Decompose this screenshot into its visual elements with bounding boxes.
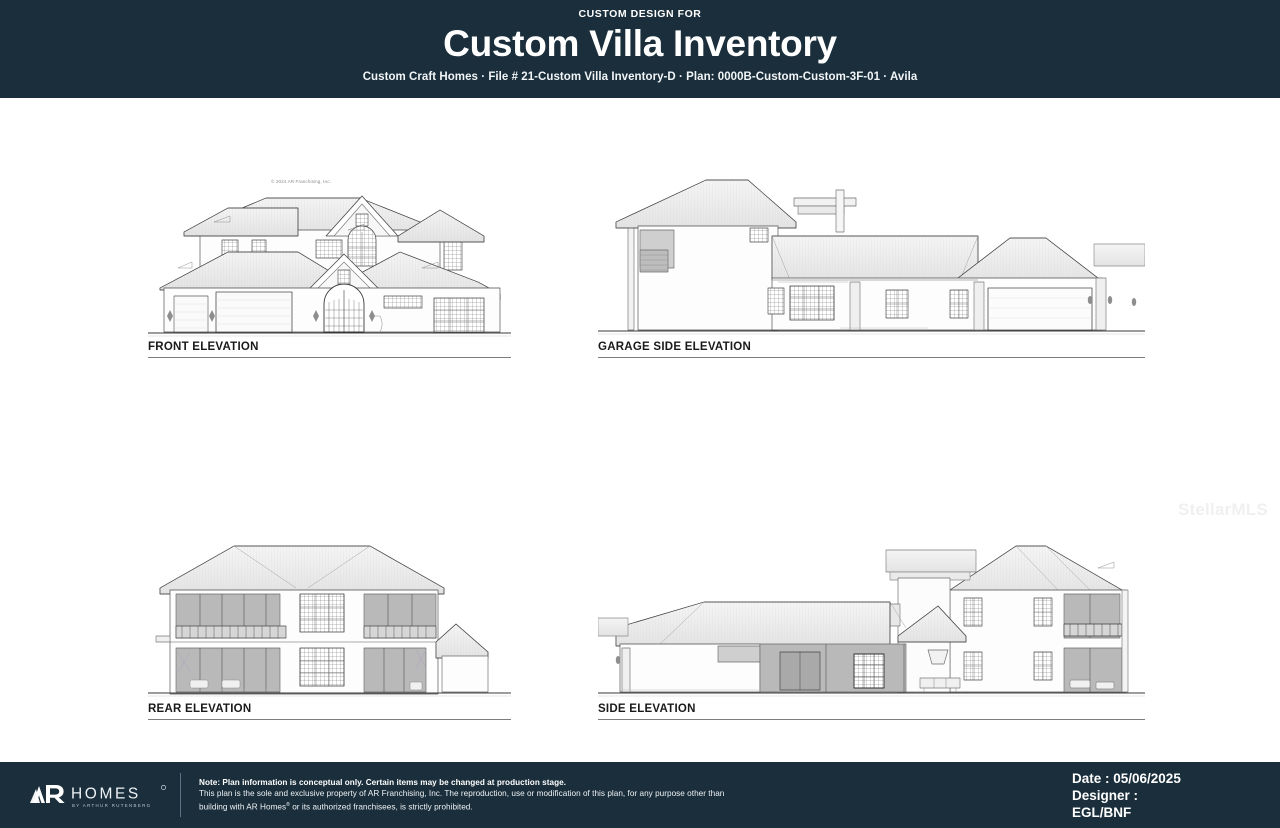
sheet-footer: HOMES BY ARTHUR RUTENBERG Note: Plan inf…: [0, 762, 1280, 828]
svg-text:HOMES: HOMES: [71, 786, 141, 803]
footer-divider: [180, 773, 181, 817]
disclaimer-line-3: building with AR Homes® or its authorize…: [199, 800, 1060, 813]
panel-label-garage-side-elevation: GARAGE SIDE ELEVATION: [598, 340, 1145, 354]
disclaimer-line-3-prefix: building with AR Homes: [199, 803, 286, 812]
ar-homes-logo: HOMES BY ARTHUR RUTENBERG: [22, 777, 172, 813]
sheet-header: CUSTOM DESIGN FOR Custom Villa Inventory…: [0, 0, 1280, 98]
footer-meta-block: Date : 05/06/2025 Designer : EGL/BNF: [1060, 770, 1262, 821]
garage-side-elevation-drawing: [598, 170, 1145, 340]
panel-front-elevation: © 2024 AR Franchising, Inc.: [148, 170, 511, 358]
disclaimer-line-3-suffix: or its authorized franchisees, is strict…: [290, 803, 473, 812]
footer-disclaimer: Note: Plan information is conceptual onl…: [199, 777, 1060, 813]
header-eyebrow: CUSTOM DESIGN FOR: [0, 7, 1280, 21]
panel-garage-side-elevation: GARAGE SIDE ELEVATION: [598, 170, 1145, 358]
panel-label-rear-elevation: REAR ELEVATION: [148, 702, 511, 716]
disclaimer-note-bold: Note: Plan information is conceptual onl…: [199, 777, 1060, 788]
side-elevation-drawing: [598, 532, 1145, 702]
front-elevation-drawing: © 2024 AR Franchising, Inc.: [148, 170, 511, 340]
designer-value: EGL/BNF: [1072, 804, 1262, 821]
copyright-note: © 2024 AR Franchising, Inc.: [271, 179, 331, 184]
panel-side-elevation: SIDE ELEVATION: [598, 532, 1145, 720]
date-label: Date : 05/06/2025: [1072, 770, 1262, 787]
panel-rule-rear: [148, 719, 511, 720]
plan-sheet: CUSTOM DESIGN FOR Custom Villa Inventory…: [0, 0, 1280, 828]
panel-label-side-elevation: SIDE ELEVATION: [598, 702, 1145, 716]
elevation-drawings-area: StellarMLS © 2024 AR Franchising, Inc.: [0, 98, 1280, 762]
panel-rear-elevation: REAR ELEVATION: [148, 532, 511, 720]
header-subtitle: Custom Craft Homes · File # 21-Custom Vi…: [0, 70, 1280, 85]
svg-text:BY ARTHUR RUTENBERG: BY ARTHUR RUTENBERG: [72, 803, 151, 808]
panel-rule-side: [598, 719, 1145, 720]
panel-rule-garage-side: [598, 357, 1145, 358]
rear-elevation-drawing: [148, 532, 511, 702]
designer-label: Designer :: [1072, 787, 1262, 804]
page-title: Custom Villa Inventory: [0, 22, 1280, 66]
panel-label-front-elevation: FRONT ELEVATION: [148, 340, 511, 354]
stellarmls-watermark: StellarMLS: [1178, 500, 1268, 520]
disclaimer-line-2: This plan is the sole and exclusive prop…: [199, 788, 1060, 799]
panel-rule-front: [148, 357, 511, 358]
